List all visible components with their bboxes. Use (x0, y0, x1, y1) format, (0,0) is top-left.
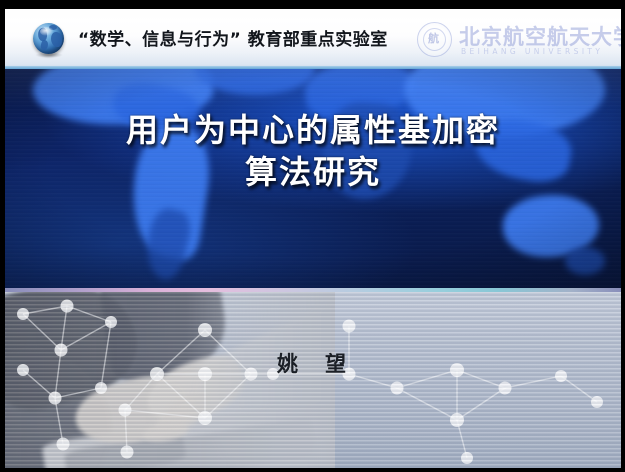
map-landmass-new-zealand (565, 247, 605, 275)
globe-highlight (40, 27, 54, 36)
globe-landmass (40, 39, 49, 50)
university-logo: 航 北京航空航天大学 BEIHANG UNIVERSITY (417, 19, 609, 61)
author-name: 姚 望 (5, 348, 621, 378)
slide-letterbox-frame: “数学、信息与行为” 教育部重点实验室 航 北京航空航天大学 BEIHANG U… (0, 0, 625, 472)
laboratory-title: “数学、信息与行为” 教育部重点实验室 (78, 25, 388, 50)
slide-header-bar: “数学、信息与行为” 教育部重点实验室 航 北京航空航天大学 BEIHANG U… (5, 9, 621, 69)
page-title-line-1: 用户为中心的属性基加密 (5, 109, 621, 151)
seal-glyph: 航 (426, 31, 441, 46)
globe-landmass (51, 32, 62, 47)
footer-photo-panel: 姚 望 (5, 292, 621, 468)
university-name-en: BEIHANG UNIVERSITY (461, 47, 603, 56)
globe-ball (33, 23, 64, 54)
globe-icon (31, 22, 67, 58)
hero-world-map-band: 用户为中心的属性基加密 算法研究 (5, 69, 621, 289)
slide-title-block: 用户为中心的属性基加密 算法研究 (5, 109, 621, 193)
presentation-slide: “数学、信息与行为” 教育部重点实验室 航 北京航空航天大学 BEIHANG U… (5, 9, 621, 468)
university-seal-icon: 航 (417, 22, 452, 57)
hands-on-laptop-photo (5, 292, 335, 468)
page-title-line-2: 算法研究 (5, 151, 621, 193)
